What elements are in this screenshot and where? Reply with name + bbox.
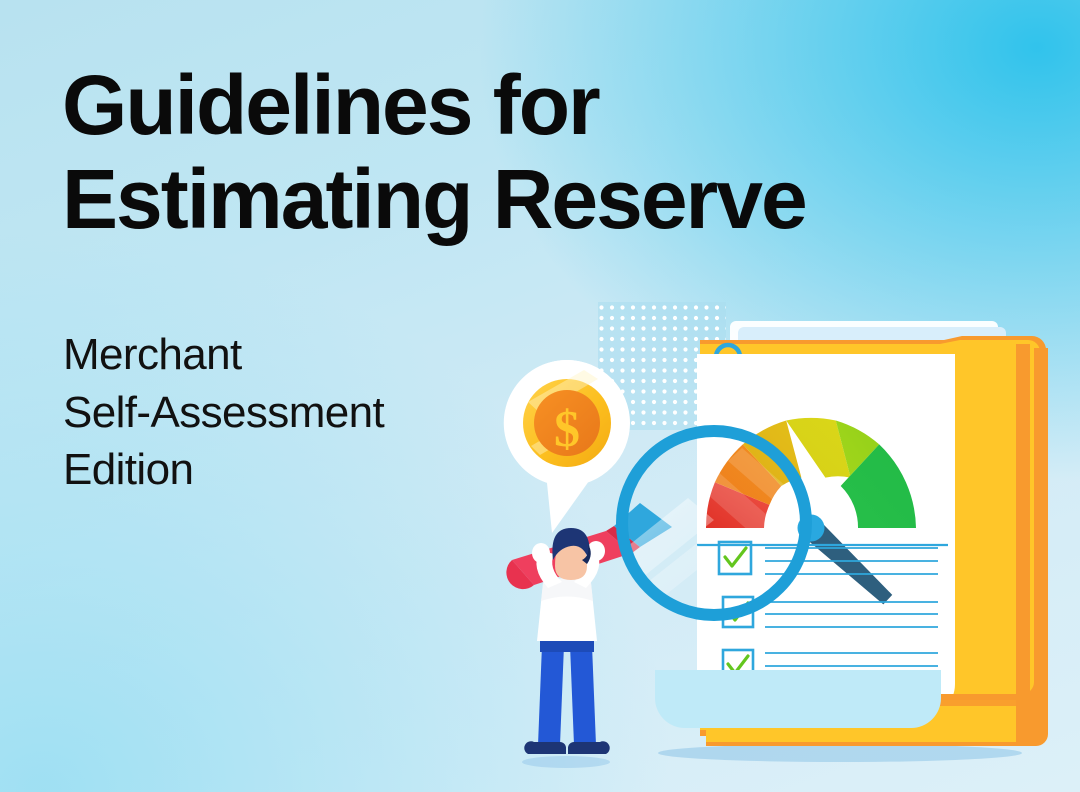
person-shadow — [522, 756, 610, 768]
speech-bubble-coin: $ — [504, 360, 630, 533]
folder-shadow — [658, 744, 1022, 762]
cover-title: Guidelines for Estimating Reserve — [62, 58, 682, 246]
shoe-left — [524, 741, 566, 754]
person-figure — [524, 528, 609, 754]
cover-subtitle: Merchant Self-Assessment Edition — [63, 326, 493, 499]
subtitle-line-2: Self-Assessment — [63, 384, 493, 442]
dollar-sign-icon: $ — [554, 401, 580, 458]
shelf-plate — [655, 670, 941, 728]
subtitle-line-1: Merchant — [63, 326, 493, 384]
title-line-1: Guidelines for — [62, 58, 682, 152]
hand-left — [532, 543, 550, 563]
leg-right — [570, 645, 596, 745]
leg-left — [538, 645, 564, 745]
cover-page: $ — [0, 0, 1080, 792]
title-line-2: Estimating Reserve — [62, 152, 682, 246]
subtitle-line-3: Edition — [63, 441, 493, 499]
shoe-right — [568, 741, 610, 754]
